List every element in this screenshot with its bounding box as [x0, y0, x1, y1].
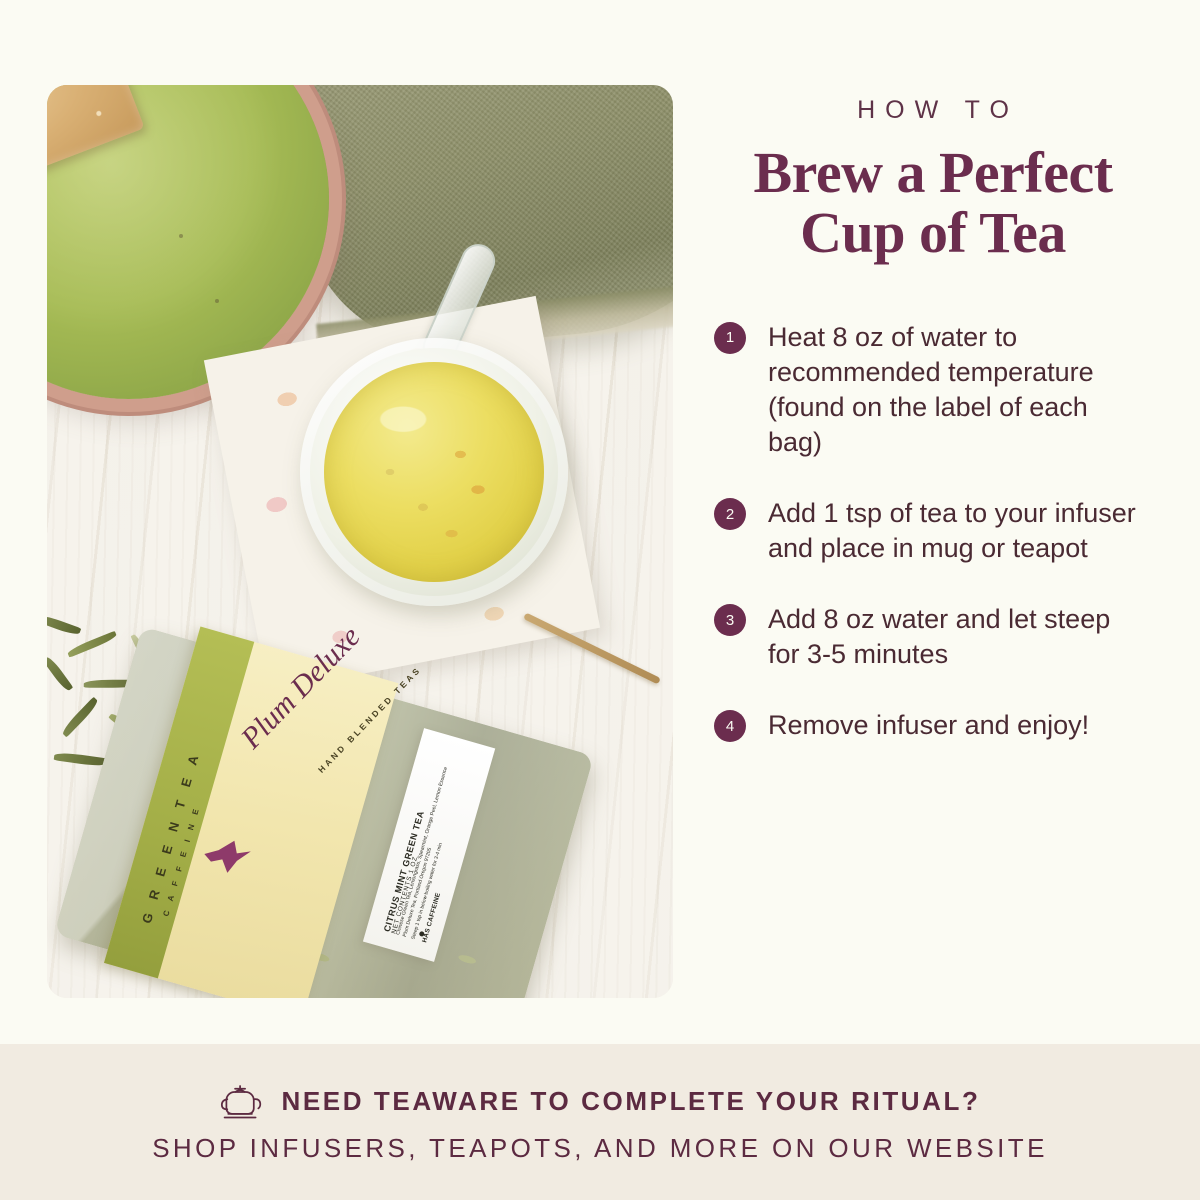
list-item: 1 Heat 8 oz of water to recommended temp… — [714, 320, 1166, 460]
brewed-tea-liquid — [324, 362, 544, 582]
step-number-badge: 2 — [714, 498, 746, 530]
crumb — [215, 299, 219, 303]
headline-line-1: Brew a Perfect — [753, 140, 1112, 205]
step-text: Add 8 oz water and let steep for 3-5 min… — [768, 602, 1148, 672]
footer-line-2: SHOP INFUSERS, TEAPOTS, AND MORE ON OUR … — [152, 1133, 1048, 1164]
kicker-text: HOW TO — [700, 96, 1166, 125]
footer-headline-row: NEED TEAWARE TO COMPLETE YOUR RITUAL? — [219, 1081, 980, 1123]
step-text: Add 1 tsp of tea to your infuser and pla… — [768, 496, 1148, 566]
teapot-icon — [219, 1081, 263, 1123]
step-number-badge: 4 — [714, 710, 746, 742]
step-number-badge: 1 — [714, 322, 746, 354]
list-item: 2 Add 1 tsp of tea to your infuser and p… — [714, 496, 1166, 566]
page-title: Brew a Perfect Cup of Tea — [700, 143, 1166, 264]
headline-line-2: Cup of Tea — [800, 200, 1066, 265]
footer-banner: NEED TEAWARE TO COMPLETE YOUR RITUAL? SH… — [0, 1044, 1200, 1200]
step-text: Heat 8 oz of water to recommended temper… — [768, 320, 1148, 460]
list-item: 4 Remove infuser and enjoy! — [714, 708, 1166, 743]
instructions-panel: HOW TO Brew a Perfect Cup of Tea 1 Heat … — [700, 96, 1166, 779]
footer-line-1: NEED TEAWARE TO COMPLETE YOUR RITUAL? — [281, 1086, 980, 1117]
step-number-badge: 3 — [714, 604, 746, 636]
step-text: Remove infuser and enjoy! — [768, 708, 1089, 743]
tea-flatlay-photo: G R E E N T E A C A F F E I N E Plum Del… — [47, 85, 673, 998]
glass-mug — [300, 338, 568, 606]
infographic-canvas: G R E E N T E A C A F F E I N E Plum Del… — [0, 0, 1200, 1200]
hummingbird-logo-icon — [203, 836, 252, 875]
list-item: 3 Add 8 oz water and let steep for 3-5 m… — [714, 602, 1166, 672]
steps-list: 1 Heat 8 oz of water to recommended temp… — [700, 320, 1166, 744]
crumb — [179, 234, 183, 238]
